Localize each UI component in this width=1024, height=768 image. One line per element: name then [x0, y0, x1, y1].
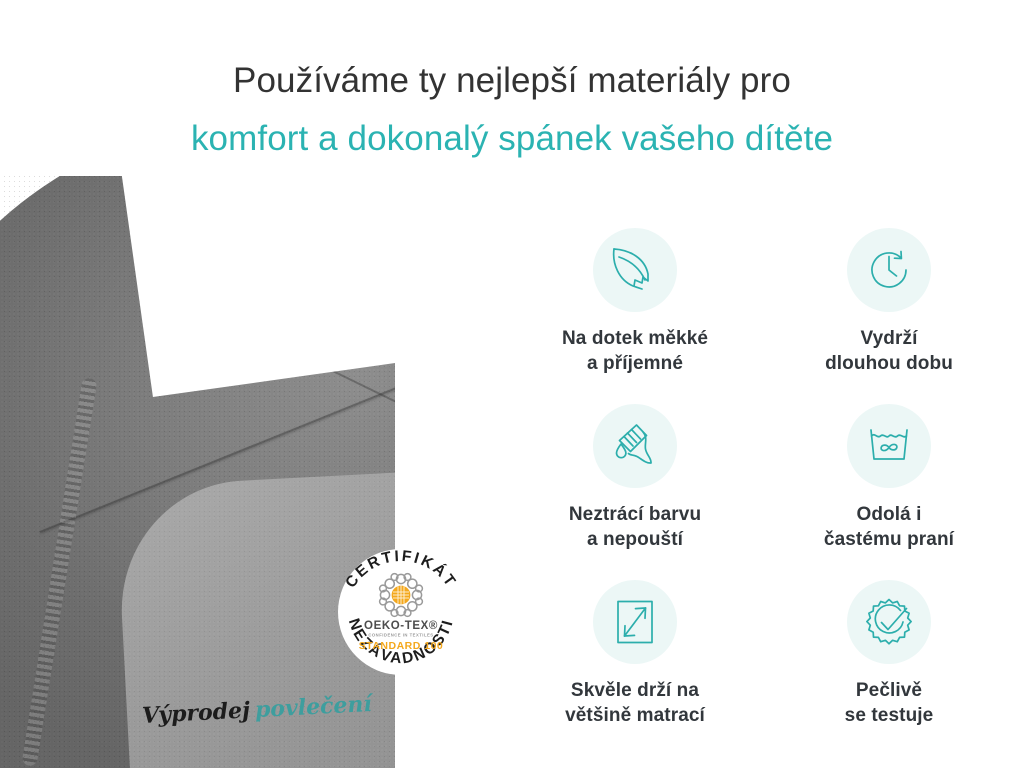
oeko-tex-certificate-badge: CERTIFIKÁT NEZÁVADNOSTI [326, 537, 476, 687]
headline-line-2: komfort a dokonalý spánek vašeho dítěte [0, 116, 1024, 162]
feature-item-tested: Pečlivě se testuje [766, 580, 1012, 756]
verified-badge-check-icon [847, 580, 931, 664]
feature-item-fits-mattress: Skvěle drží na většině matrací [512, 580, 758, 756]
wash-basin-infinity-icon [847, 404, 931, 488]
feature-label: Vydrží dlouhou dobu [825, 326, 953, 376]
feature-label: Na dotek měkké a příjemné [562, 326, 708, 376]
headline: Používáme ty nejlepší materiály pro komf… [0, 58, 1024, 162]
feature-label: Skvěle drží na většině matrací [565, 678, 705, 728]
headline-line-1: Používáme ty nejlepší materiály pro [0, 58, 1024, 104]
feature-label: Odolá i častému praní [824, 502, 954, 552]
leaf-icon [593, 228, 677, 312]
promo-banner: CERTIFIKÁT NEZÁVADNOSTI [0, 0, 1024, 768]
badge-brand-text: OEKO-TEX® [364, 620, 438, 632]
badge-brand-subtitle: CONFIDENCE IN TEXTILES [368, 633, 433, 638]
feature-item-durable: Vydrží dlouhou dobu [766, 228, 1012, 404]
feature-label: Neztrácí barvu a nepouští [569, 502, 701, 552]
feature-item-soft: Na dotek měkké a příjemné [512, 228, 758, 404]
paintbrush-droplet-icon [593, 404, 677, 488]
feature-grid: Na dotek měkké a příjemné Vydrží dlouhou… [512, 228, 1012, 756]
feature-item-washable: Odolá i častému praní [766, 404, 1012, 580]
feature-label: Pečlivě se testuje [845, 678, 934, 728]
stretch-arrows-icon [593, 580, 677, 664]
clock-arrow-icon [847, 228, 931, 312]
feature-item-colorfast: Neztrácí barvu a nepouští [512, 404, 758, 580]
badge-standard-text: STANDARD 100 [359, 640, 444, 652]
